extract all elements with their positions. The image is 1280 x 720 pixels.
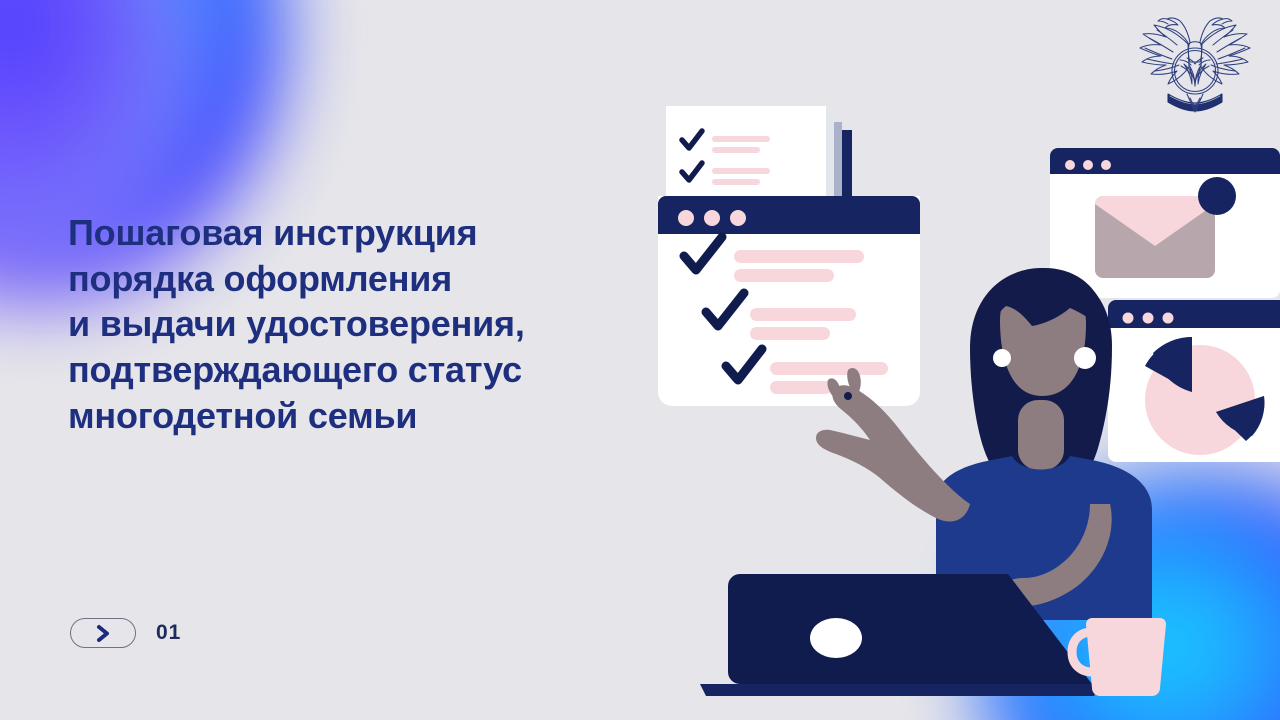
- slide-root: Пошаговая инструкция порядка оформления …: [0, 0, 1280, 720]
- pager: 01: [70, 618, 181, 648]
- hero-illustration: [640, 100, 1280, 720]
- envelope-icon: [1095, 196, 1215, 278]
- checklist-window: [658, 196, 920, 406]
- page-number: 01: [156, 621, 181, 645]
- next-slide-button[interactable]: [70, 618, 136, 648]
- chevron-right-icon: [96, 624, 111, 643]
- laptop-logo: [810, 618, 862, 658]
- page-title: Пошаговая инструкция порядка оформления …: [68, 210, 688, 439]
- ring: [844, 392, 852, 400]
- earring-right: [1074, 347, 1096, 369]
- earring-left: [993, 349, 1011, 367]
- notification-badge: [1198, 177, 1236, 215]
